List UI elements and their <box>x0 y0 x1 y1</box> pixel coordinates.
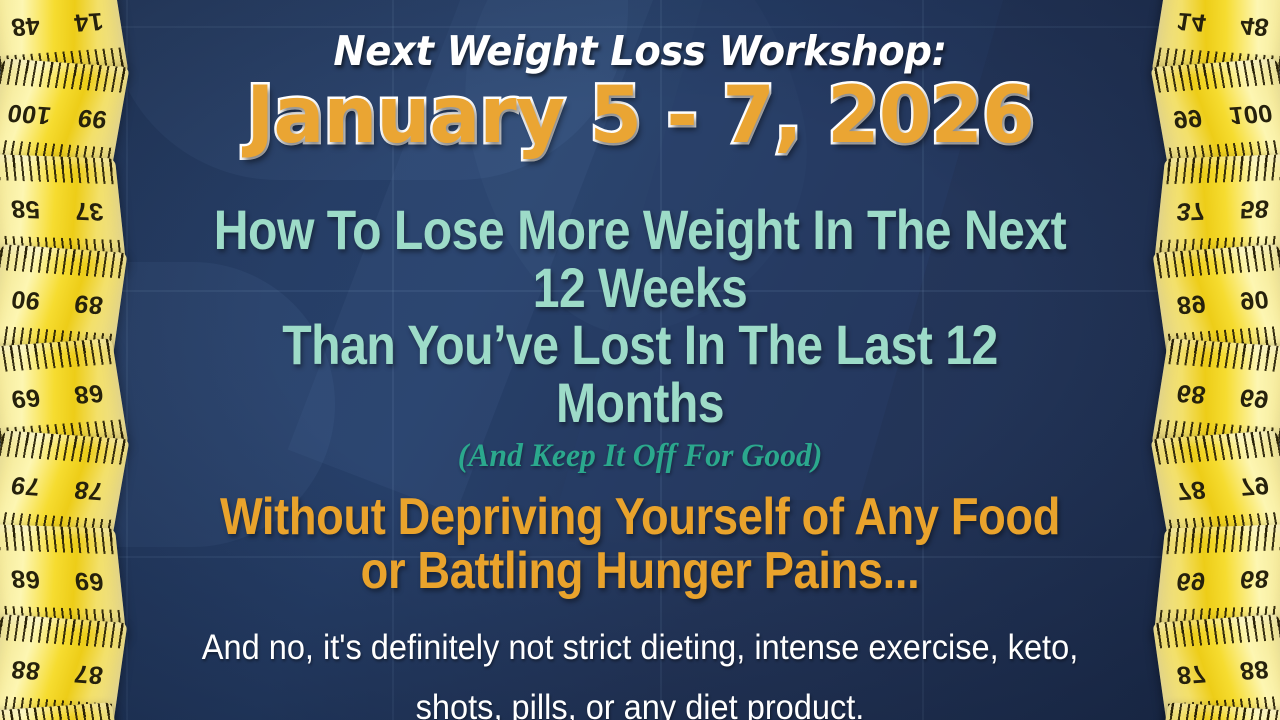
headline-line-1: How To Lose More Weight In The Next 12 W… <box>210 201 1070 316</box>
subhead-line-1: Without Depriving Yourself of Any Food <box>205 490 1075 544</box>
promo-copy: Next Weight Loss Workshop: January 5 - 7… <box>0 0 1280 720</box>
subhead-line-2: or Battling Hunger Pains... <box>205 544 1075 598</box>
headline-line-2: Than You’ve Lost In The Last 12 Months <box>210 316 1070 431</box>
workshop-date: January 5 - 7, 2026 <box>155 77 1125 155</box>
main-headline: How To Lose More Weight In The Next 12 W… <box>210 201 1070 432</box>
disclaimer-text: And no, it's definitely not strict dieti… <box>175 618 1105 720</box>
sub-headline: Without Depriving Yourself of Any Food o… <box>205 490 1075 598</box>
workshop-kicker: Next Weight Loss Workshop: <box>170 30 1110 73</box>
promo-slide: 14 48 99 100 37 58 89 90 <box>0 0 1280 720</box>
headline-parenthetical: (And Keep It Off For Good) <box>160 438 1120 474</box>
